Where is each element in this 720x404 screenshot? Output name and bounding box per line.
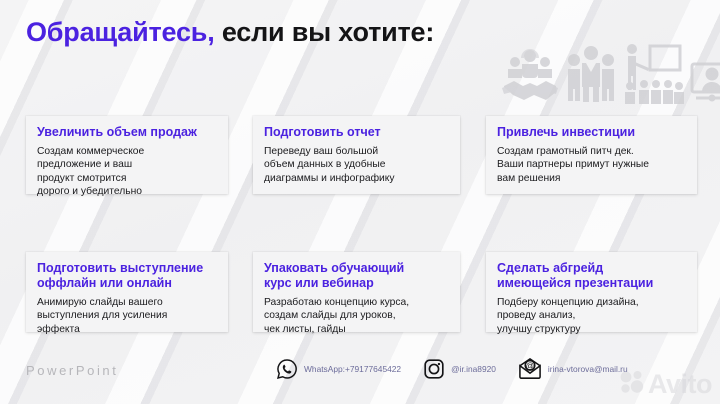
avito-wordmark: Avito: [648, 369, 712, 400]
offer-card[interactable]: Подготовить отчет Переведу ваш большой о…: [253, 116, 460, 194]
offer-card[interactable]: Увеличить объем продаж Создам коммерческ…: [26, 116, 228, 194]
people-group-icon: [566, 44, 616, 104]
offer-card-body: Создам коммерческое предложение и ваш пр…: [37, 145, 217, 199]
contact-bar: WhatsApp:+79177645422 @ir.ina8920 @: [276, 358, 628, 380]
offer-card[interactable]: Упаковать обучающий курс или вебинар Раз…: [253, 252, 460, 332]
offer-card-body: Разработаю концепцию курса, создам слайд…: [264, 296, 449, 337]
offer-card-title: Сделать абгрейд имеющейся презентации: [497, 261, 686, 291]
contact-instagram[interactable]: @ir.ina8920: [423, 358, 496, 380]
offer-card[interactable]: Сделать абгрейд имеющейся презентации По…: [486, 252, 697, 332]
instagram-icon: [423, 358, 445, 380]
contact-email[interactable]: @ irina-vtorova@mail.ru: [518, 358, 628, 380]
contact-email-label: irina-vtorova@mail.ru: [548, 364, 628, 374]
presentation-slide: Обращайтесь, если вы хотите:: [0, 0, 720, 404]
slide-title-rest: если вы хотите:: [215, 17, 435, 47]
contact-whatsapp[interactable]: WhatsApp:+79177645422: [276, 358, 401, 380]
offer-card-body: Создам грамотный питч дек. Ваши партнеры…: [497, 145, 686, 186]
offer-card[interactable]: Привлечь инвестиции Создам грамотный пит…: [486, 116, 697, 194]
avito-watermark: Avito: [619, 369, 712, 400]
offer-card-title: Подготовить выступление оффлайн или онла…: [37, 261, 217, 291]
video-call-monitor-icon: [690, 62, 720, 104]
offer-card-body: Подберу концепцию дизайна, проведу анали…: [497, 296, 686, 337]
offer-card-title: Подготовить отчет: [264, 125, 449, 140]
offer-card-title: Привлечь инвестиции: [497, 125, 686, 140]
offer-card[interactable]: Подготовить выступление оффлайн или онла…: [26, 252, 228, 332]
slide-title-accent: Обращайтесь,: [26, 17, 215, 47]
offer-card-body: Анимирую слайды вашего выступления для у…: [37, 296, 217, 337]
decorative-icon-strip: [500, 12, 714, 104]
presenter-audience-icon: [622, 40, 684, 104]
offer-card-title: Увеличить объем продаж: [37, 125, 217, 140]
contact-instagram-label: @ir.ina8920: [451, 364, 496, 374]
whatsapp-icon: [276, 358, 298, 380]
offer-card-title: Упаковать обучающий курс или вебинар: [264, 261, 449, 291]
svg-text:@: @: [526, 362, 534, 371]
slide-title: Обращайтесь, если вы хотите:: [26, 17, 434, 48]
offer-card-body: Переведу ваш большой объем данных в удоб…: [264, 145, 449, 186]
contact-whatsapp-label: WhatsApp:+79177645422: [304, 364, 401, 374]
powerpoint-brand-label: PowerPoint: [26, 363, 118, 378]
handshake-teamwork-icon: [500, 46, 560, 104]
email-envelope-icon: @: [518, 358, 542, 380]
